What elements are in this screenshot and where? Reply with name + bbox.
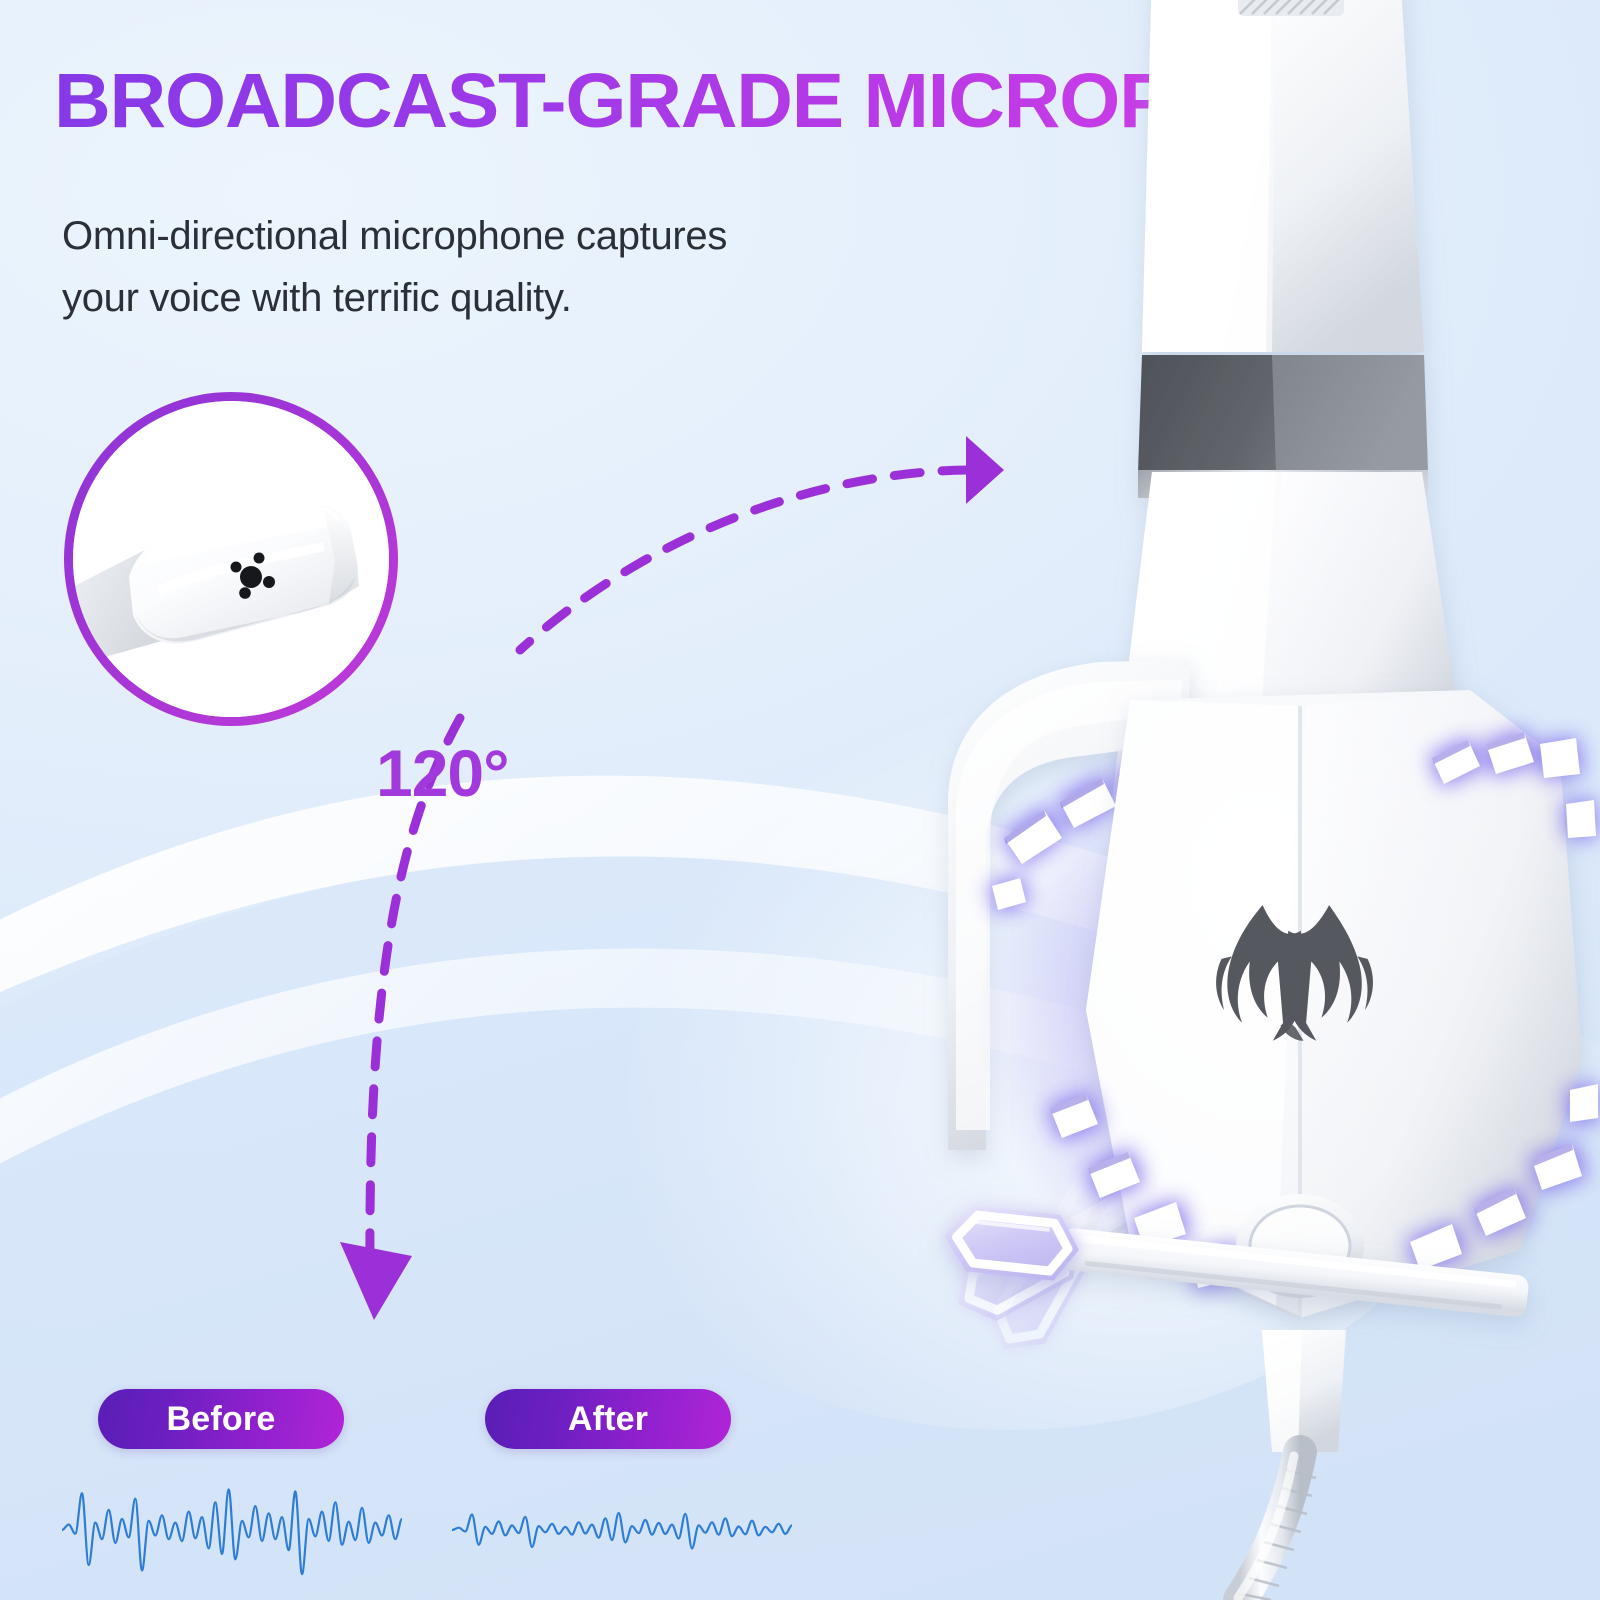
subtitle-line-1: Omni-directional microphone captures [62,205,922,267]
rotation-angle-label: 120° [376,735,509,811]
subtitle-text: Omni-directional microphone captures you… [62,205,922,329]
microphone-closeup-inset [64,392,398,726]
waveform-after [452,1474,792,1586]
subtitle-line-2: your voice with terrific quality. [62,267,922,329]
infographic-canvas: BROADCAST-GRADE MICROPHONE Omni-directio… [0,0,1600,1600]
waveform-before [62,1474,402,1586]
inset-content [73,401,389,717]
badge-after: After [485,1389,731,1449]
page-title: BROADCAST-GRADE MICROPHONE [54,62,1594,141]
badge-before: Before [98,1389,344,1449]
mic-capsule-illustration [73,401,389,717]
